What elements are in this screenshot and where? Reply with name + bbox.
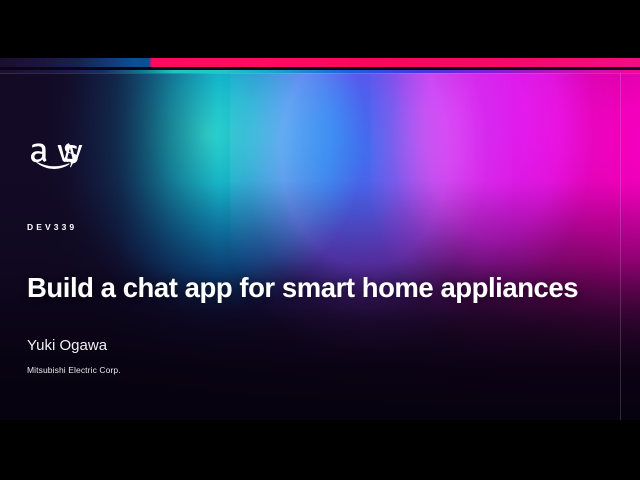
aws-smile-logo-icon: [27, 138, 83, 172]
speaker-name: Yuki Ogawa: [27, 337, 107, 355]
page-title: Build a chat app for smart home applianc…: [27, 272, 578, 304]
vertical-hairline-rule: [620, 73, 621, 420]
screenshot-canvas: DEV339 Build a chat app for smart home a…: [0, 0, 640, 480]
top-accent-bar-thick: [0, 58, 640, 67]
horizontal-hairline-rule: [0, 73, 640, 74]
presentation-slide: DEV339 Build a chat app for smart home a…: [0, 58, 640, 420]
speaker-organization: Mitsubishi Electric Corp.: [27, 365, 121, 375]
session-code-label: DEV339: [27, 223, 77, 232]
